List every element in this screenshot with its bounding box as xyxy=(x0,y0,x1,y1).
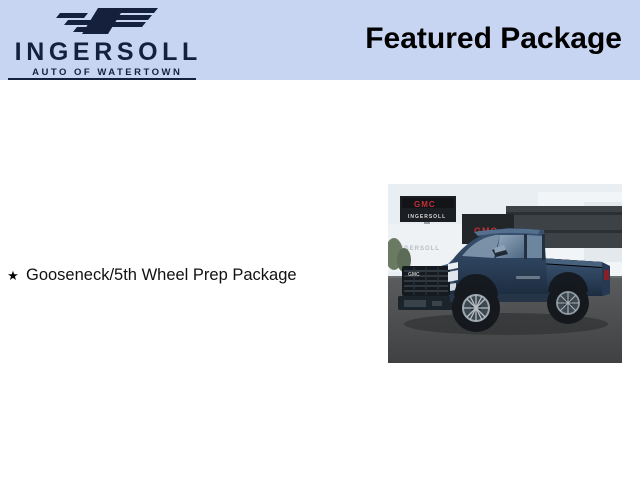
page-header: INGERSOLL AUTO OF WATERTOWN Featured Pac… xyxy=(0,0,640,80)
feature-label: Gooseneck/5th Wheel Prep Package xyxy=(26,266,297,286)
svg-text:GMC: GMC xyxy=(408,272,420,278)
list-item: ★ Gooseneck/5th Wheel Prep Package xyxy=(0,266,370,286)
feature-list: ★ Gooseneck/5th Wheel Prep Package xyxy=(0,266,370,292)
ingersoll-winged-i-emblem-icon xyxy=(54,5,164,37)
brand-logo: INGERSOLL AUTO OF WATERTOWN xyxy=(8,2,204,80)
brand-name: INGERSOLL xyxy=(8,40,204,65)
page-title: Featured Package xyxy=(365,22,622,55)
vehicle-photo: GMC INGERSOLL GMC INGERSOLL xyxy=(388,184,622,363)
brand-tagline: AUTO OF WATERTOWN xyxy=(8,68,204,78)
svg-text:INGERSOLL: INGERSOLL xyxy=(408,214,446,220)
star-bullet-icon: ★ xyxy=(0,269,26,282)
svg-text:GMC: GMC xyxy=(414,200,436,209)
brand-underline-divider xyxy=(8,78,196,80)
